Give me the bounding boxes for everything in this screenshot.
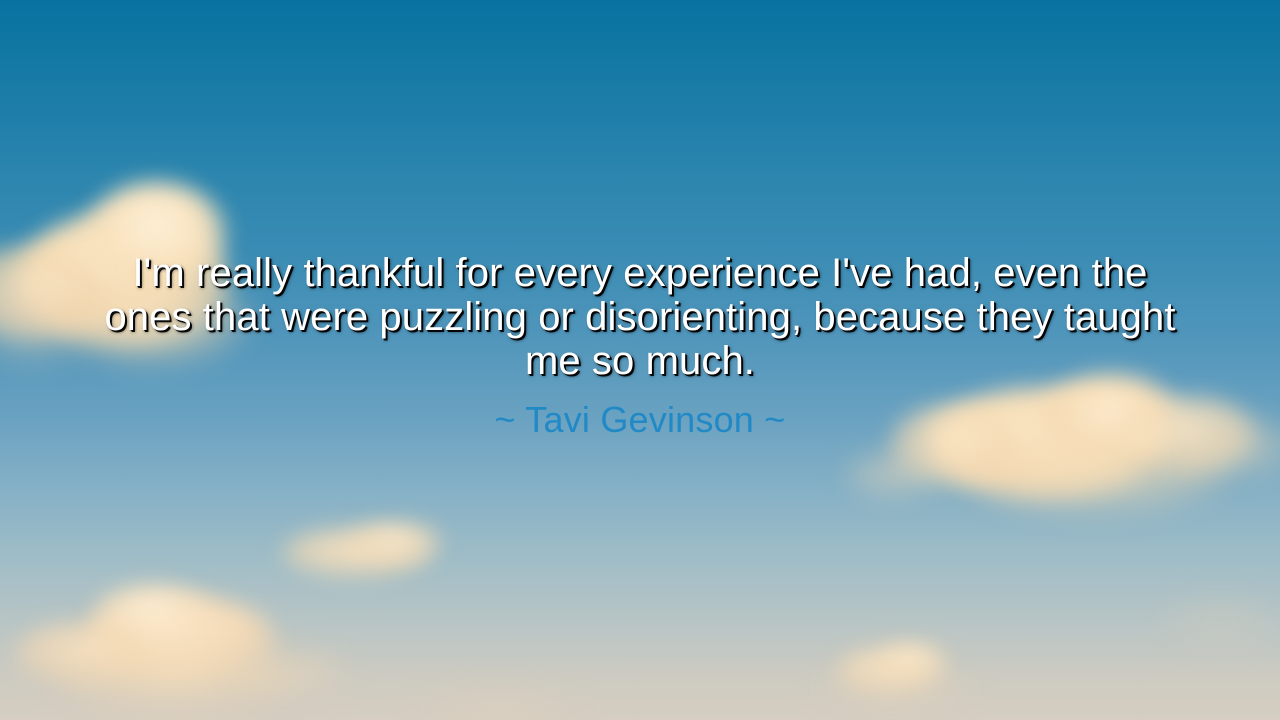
quote-attribution: ~ Tavi Gevinson ~: [90, 399, 1190, 441]
quote-line-3: me so much.: [90, 339, 1190, 383]
quote-overlay: I'm really thankful for every experience…: [0, 0, 1280, 720]
quote-line-2: ones that were puzzling or disorienting,…: [90, 295, 1190, 339]
quote-line-1: I'm really thankful for every experience…: [90, 251, 1190, 295]
quote-block: I'm really thankful for every experience…: [90, 251, 1190, 441]
quote-card-screen: I'm really thankful for every experience…: [0, 0, 1280, 720]
